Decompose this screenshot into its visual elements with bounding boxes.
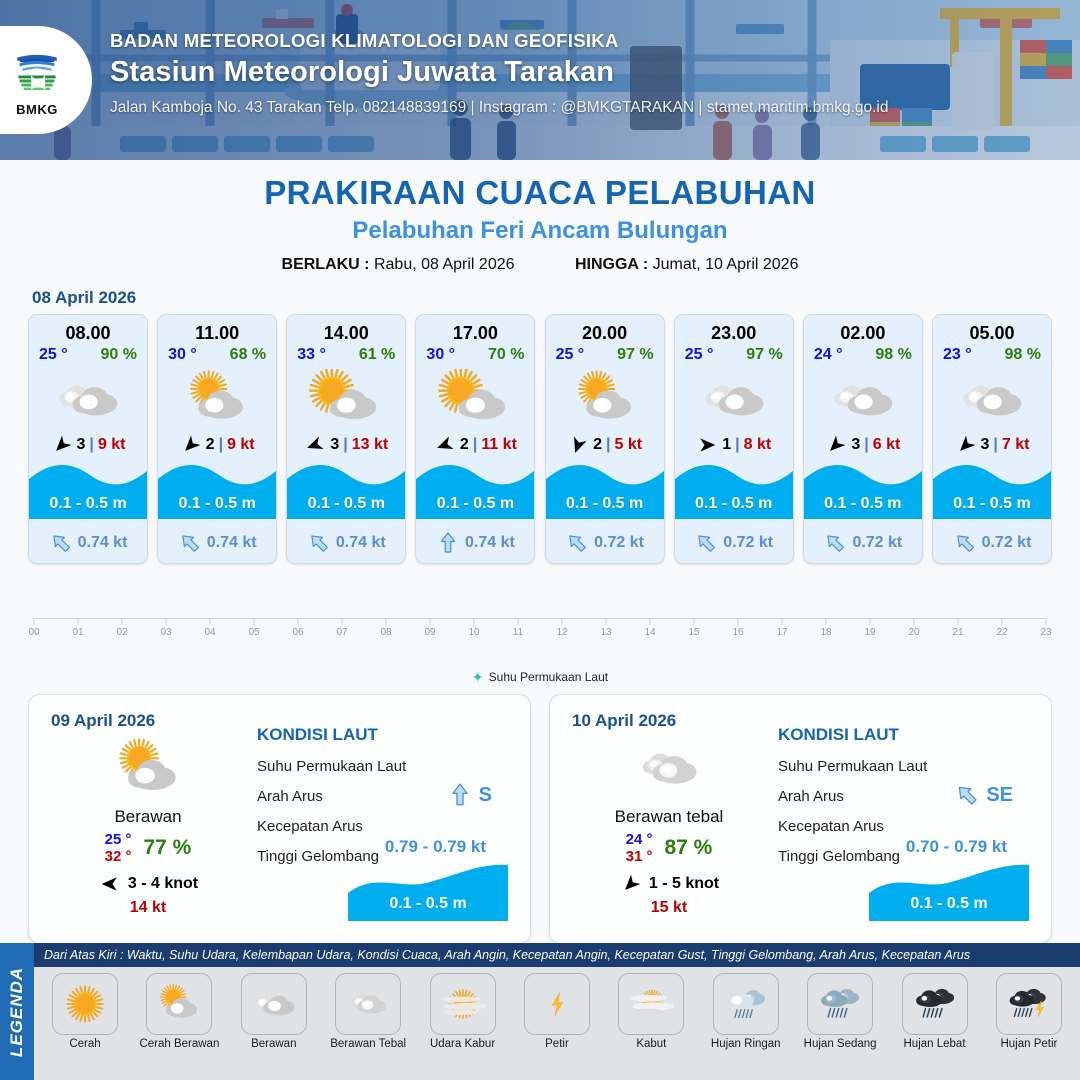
wind-direction-arrow-icon bbox=[825, 435, 847, 455]
sst-legend-marker-icon: ✦ bbox=[472, 670, 484, 684]
hourly-temperature: 33 ° bbox=[297, 346, 326, 364]
daily-temp-max: 32 ° bbox=[105, 848, 132, 865]
hourly-wind-speed: 5 kt bbox=[614, 436, 642, 454]
chart-tick-label: 16 bbox=[732, 627, 743, 638]
weather-icon-berawan-tebal bbox=[623, 737, 715, 801]
chart-tick: 19 bbox=[864, 618, 875, 638]
bmkg-logo-label: BMKG bbox=[16, 102, 58, 117]
hourly-wave-height: 0.1 - 0.5 m bbox=[158, 495, 276, 513]
chart-tick-label: 13 bbox=[600, 627, 611, 638]
legend-icon-box bbox=[713, 973, 779, 1035]
hourly-temp-hum-row: 25 ° 90 % bbox=[29, 344, 147, 364]
legend-item-label: Hujan Ringan bbox=[703, 1038, 789, 1050]
legend-item: Kabut bbox=[608, 973, 694, 1050]
weather-icon-cerah-berawan-besar bbox=[432, 369, 518, 429]
hourly-humidity: 98 % bbox=[1005, 346, 1041, 364]
chart-tick-label: 20 bbox=[908, 627, 919, 638]
current-direction-arrow-icon bbox=[49, 531, 73, 555]
hourly-weather-icon bbox=[174, 368, 260, 430]
chart-tick: 14 bbox=[644, 618, 655, 638]
chart-tick-mark bbox=[34, 618, 35, 625]
chart-tick-mark bbox=[650, 618, 651, 625]
wind-direction-arrow-icon bbox=[619, 874, 643, 894]
hourly-humidity: 68 % bbox=[230, 346, 266, 364]
hourly-current-speed: 0.74 kt bbox=[465, 534, 515, 552]
chart-tick: 10 bbox=[468, 618, 479, 638]
hourly-wind-row: 1 | 8 kt bbox=[696, 432, 771, 458]
wind-direction-arrow-icon bbox=[304, 435, 326, 455]
chart-tick-label: 18 bbox=[820, 627, 831, 638]
daily-sea-column: KONDISI LAUT Suhu Permukaan Laut Arah Ar… bbox=[778, 725, 1037, 933]
weather-icon-cerah bbox=[56, 979, 114, 1029]
daily-wind-row: 1 - 5 knot bbox=[564, 874, 774, 894]
weather-icon-cerah-berawan bbox=[150, 979, 208, 1029]
station-name: Stasiun Meteorologi Juwata Tarakan bbox=[110, 56, 1070, 89]
hourly-current-speed: 0.74 kt bbox=[207, 534, 257, 552]
daily-temp-min: 24 ° bbox=[626, 831, 653, 848]
chart-tick: 07 bbox=[336, 618, 347, 638]
hourly-current-speed: 0.74 kt bbox=[336, 534, 386, 552]
daily-left-column: Berawan tebal 24 ° 31 ° 87 % 1 - 5 knot … bbox=[564, 737, 774, 917]
weather-icon-berawan bbox=[949, 369, 1035, 429]
chart-tick: 22 bbox=[996, 618, 1007, 638]
weather-icon-hujan-petir bbox=[1000, 979, 1058, 1029]
chart-tick-label: 21 bbox=[952, 627, 963, 638]
page-title: PRAKIRAAN CUACA PELABUHAN bbox=[0, 174, 1080, 212]
label-sea-surface-temp: Suhu Permukaan Laut bbox=[257, 758, 516, 775]
hourly-current-speed: 0.72 kt bbox=[852, 534, 902, 552]
wind-separator: | bbox=[993, 436, 997, 454]
daily-current-direction: SE bbox=[954, 781, 1013, 809]
daily-panel-list: 09 April 2026 Berawan 25 ° 32 ° 77 % bbox=[0, 684, 1080, 944]
current-direction-arrow-icon bbox=[436, 531, 460, 555]
chart-tick-mark bbox=[738, 618, 739, 625]
legend-item-label: Berawan Tebal bbox=[325, 1038, 411, 1050]
chart-tick-label: 09 bbox=[424, 627, 435, 638]
daily-wave-height-value: 0.1 - 0.5 m bbox=[869, 895, 1029, 913]
berlaku-label: BERLAKU : bbox=[282, 256, 370, 273]
hourly-card: 02.00 24 ° 98 % 3 | 6 kt bbox=[803, 314, 923, 564]
weather-icon-petir bbox=[528, 979, 586, 1029]
hourly-time: 14.00 bbox=[324, 323, 369, 344]
chart-tick: 11 bbox=[513, 618, 523, 638]
legend-item-list: Cerah Cerah Berawan Berawan bbox=[34, 967, 1080, 1050]
wind-separator: | bbox=[606, 436, 610, 454]
chart-tick-label: 12 bbox=[556, 627, 567, 638]
daily-sea-column: KONDISI LAUT Suhu Permukaan Laut Arah Ar… bbox=[257, 725, 516, 933]
hourly-current-speed: 0.74 kt bbox=[78, 534, 128, 552]
sst-legend-label: Suhu Permukaan Laut bbox=[489, 670, 608, 684]
sst-chart: 00 01 02 03 04 05 06 07 08 09 bbox=[34, 608, 1046, 654]
chart-tick-mark bbox=[342, 618, 343, 625]
hourly-temperature: 30 ° bbox=[168, 346, 197, 364]
chart-tick-label: 22 bbox=[996, 627, 1007, 638]
daily-gust-speed: 14 kt bbox=[43, 899, 253, 917]
daily-humidity: 87 % bbox=[664, 836, 712, 860]
chart-tick-mark bbox=[122, 618, 123, 625]
hourly-temp-hum-row: 25 ° 97 % bbox=[546, 344, 664, 364]
current-direction-arrow-icon bbox=[694, 531, 718, 555]
daily-current-direction: S bbox=[447, 781, 492, 809]
hourly-time: 23.00 bbox=[711, 323, 756, 344]
hourly-time: 05.00 bbox=[969, 323, 1014, 344]
hourly-temp-hum-row: 24 ° 98 % bbox=[804, 344, 922, 364]
chart-tick: 18 bbox=[820, 618, 831, 638]
hourly-card-list: 08.00 25 ° 90 % 3 | 9 kt bbox=[0, 314, 1080, 564]
daily-temp-column: 24 ° 31 ° bbox=[626, 831, 653, 866]
hourly-current-row: 0.74 kt bbox=[29, 531, 147, 555]
daily-weather-icon bbox=[43, 737, 253, 801]
hourly-wind-row: 3 | 13 kt bbox=[304, 432, 388, 458]
chart-tick-mark bbox=[1002, 618, 1003, 625]
legend-side-title: LEGENDA bbox=[7, 966, 27, 1056]
legend-item-label: Udara Kabur bbox=[420, 1038, 506, 1050]
hourly-weather-icon bbox=[45, 368, 131, 430]
chart-legend: ✦ Suhu Permukaan Laut bbox=[0, 670, 1080, 684]
hourly-card: 05.00 23 ° 98 % 3 | 7 kt bbox=[932, 314, 1052, 564]
wind-separator: | bbox=[864, 436, 868, 454]
hourly-current-speed: 0.72 kt bbox=[982, 534, 1032, 552]
chart-tick: 04 bbox=[204, 618, 215, 638]
chart-tick-mark bbox=[826, 618, 827, 625]
daily-current-speed-value: 0.79 - 0.79 kt bbox=[385, 837, 486, 857]
wind-direction-arrow-icon bbox=[98, 874, 122, 894]
daily-weather-icon bbox=[564, 737, 774, 801]
sea-condition-title: KONDISI LAUT bbox=[778, 725, 1037, 745]
chart-tick: 13 bbox=[600, 618, 611, 638]
legend-body: Dari Atas Kiri : Waktu, Suhu Udara, Kele… bbox=[34, 943, 1080, 1080]
chart-tick-mark bbox=[606, 618, 607, 625]
hourly-date: 08 April 2026 bbox=[32, 288, 1080, 308]
wind-separator: | bbox=[473, 436, 477, 454]
hourly-wave-height: 0.1 - 0.5 m bbox=[804, 495, 922, 513]
hourly-current-row: 0.74 kt bbox=[416, 531, 534, 555]
hourly-current-speed: 0.72 kt bbox=[594, 534, 644, 552]
chart-tick: 03 bbox=[160, 618, 171, 638]
hourly-current-row: 0.72 kt bbox=[546, 531, 664, 555]
chart-tick-mark bbox=[254, 618, 255, 625]
daily-current-direction-label: SE bbox=[986, 784, 1013, 807]
chart-tick-mark bbox=[210, 618, 211, 625]
chart-tick-mark bbox=[474, 618, 475, 625]
hourly-weather-icon bbox=[949, 368, 1035, 430]
chart-tick-mark bbox=[386, 618, 387, 625]
daily-panel: 10 April 2026 Berawan tebal 24 ° 31 ° 87… bbox=[549, 694, 1052, 944]
hourly-wind-speed: 6 kt bbox=[873, 436, 901, 454]
hourly-card: 14.00 33 ° 61 % 3 | 13 kt 0.1 - 0.5 m bbox=[286, 314, 406, 564]
hourly-wind-direction-value: 2 bbox=[593, 436, 602, 454]
daily-wind-speed-range: 3 - 4 knot bbox=[128, 875, 198, 893]
chart-tick-mark bbox=[562, 618, 563, 625]
chart-tick: 23 bbox=[1040, 618, 1051, 638]
hourly-temp-hum-row: 23 ° 98 % bbox=[933, 344, 1051, 364]
chart-tick-mark bbox=[694, 618, 695, 625]
chart-tick-mark bbox=[430, 618, 431, 625]
chart-tick-label: 02 bbox=[116, 627, 127, 638]
daily-date: 09 April 2026 bbox=[51, 711, 155, 731]
legend-section: LEGENDA Dari Atas Kiri : Waktu, Suhu Uda… bbox=[0, 943, 1080, 1080]
daily-temp-column: 25 ° 32 ° bbox=[105, 831, 132, 866]
hourly-current-row: 0.74 kt bbox=[158, 531, 276, 555]
chart-tick: 20 bbox=[908, 618, 919, 638]
hourly-temperature: 23 ° bbox=[943, 346, 972, 364]
daily-wave-block: 0.1 - 0.5 m bbox=[348, 863, 508, 921]
legend-icon-box bbox=[996, 973, 1062, 1035]
chart-tick-label: 10 bbox=[468, 627, 479, 638]
hourly-current-row: 0.72 kt bbox=[933, 531, 1051, 555]
daily-current-direction-label: S bbox=[479, 784, 492, 807]
legend-item: Berawan Tebal bbox=[325, 973, 411, 1050]
legend-item: Hujan Lebat bbox=[892, 973, 978, 1050]
weather-icon-berawan-tebal bbox=[339, 979, 397, 1029]
hourly-current-row: 0.72 kt bbox=[675, 531, 793, 555]
legend-item: Hujan Sedang bbox=[797, 973, 883, 1050]
current-direction-arrow-icon bbox=[954, 781, 980, 809]
hourly-temperature: 24 ° bbox=[814, 346, 843, 364]
legend-side-bar: LEGENDA bbox=[0, 943, 34, 1080]
legend-item-label: Petir bbox=[514, 1038, 600, 1050]
daily-left-column: Berawan 25 ° 32 ° 77 % 3 - 4 knot 14 kt bbox=[43, 737, 253, 917]
current-direction-arrow-icon bbox=[565, 531, 589, 555]
sea-condition-title: KONDISI LAUT bbox=[257, 725, 516, 745]
page-subtitle: Pelabuhan Feri Ancam Bulungan bbox=[0, 217, 1080, 245]
chart-tick-label: 01 bbox=[72, 627, 83, 638]
legend-item: Hujan Ringan bbox=[703, 973, 789, 1050]
weather-icon-berawan bbox=[45, 369, 131, 429]
hourly-time: 02.00 bbox=[840, 323, 885, 344]
validity-row: BERLAKU : Rabu, 08 April 2026 HINGGA : J… bbox=[0, 256, 1080, 274]
hourly-humidity: 97 % bbox=[746, 346, 782, 364]
hourly-card: 20.00 25 ° 97 % 2 | 5 kt 0.1 - 0.5 m bbox=[545, 314, 665, 564]
hourly-time: 17.00 bbox=[453, 323, 498, 344]
current-direction-arrow-icon bbox=[178, 531, 202, 555]
weather-icon-hujan-lebat bbox=[906, 979, 964, 1029]
weather-icon-berawan bbox=[245, 979, 303, 1029]
bmkg-logo-icon bbox=[8, 43, 66, 101]
hourly-wave-height: 0.1 - 0.5 m bbox=[29, 495, 147, 513]
hourly-humidity: 70 % bbox=[488, 346, 524, 364]
hingga-value: Jumat, 10 April 2026 bbox=[653, 256, 799, 273]
chart-tick-label: 00 bbox=[28, 627, 39, 638]
legend-item: Cerah bbox=[42, 973, 128, 1050]
chart-tick-mark bbox=[870, 618, 871, 625]
hourly-temperature: 25 ° bbox=[685, 346, 714, 364]
hourly-wind-row: 2 | 9 kt bbox=[180, 432, 255, 458]
hourly-wave-height: 0.1 - 0.5 m bbox=[675, 495, 793, 513]
chart-tick-label: 03 bbox=[160, 627, 171, 638]
hourly-humidity: 97 % bbox=[617, 346, 653, 364]
hourly-card: 17.00 30 ° 70 % 2 | 11 kt 0.1 - 0.5 m bbox=[415, 314, 535, 564]
hourly-wave-height: 0.1 - 0.5 m bbox=[287, 495, 405, 513]
chart-tick: 15 bbox=[688, 618, 699, 638]
daily-date: 10 April 2026 bbox=[572, 711, 676, 731]
legend-icon-box bbox=[52, 973, 118, 1035]
weather-icon-udara-kabur bbox=[434, 979, 492, 1029]
hourly-wind-direction-value: 2 bbox=[206, 436, 215, 454]
current-direction-arrow-icon bbox=[307, 531, 331, 555]
wind-direction-arrow-icon bbox=[434, 435, 456, 455]
chart-tick: 16 bbox=[732, 618, 743, 638]
legend-item-label: Hujan Petir bbox=[986, 1038, 1072, 1050]
hourly-wind-speed: 13 kt bbox=[352, 436, 388, 454]
hourly-temp-hum-row: 25 ° 97 % bbox=[675, 344, 793, 364]
current-direction-arrow-icon bbox=[447, 781, 473, 809]
hourly-wind-direction-value: 3 bbox=[851, 436, 860, 454]
chart-tick-mark bbox=[782, 618, 783, 625]
weather-icon-cerah-berawan bbox=[174, 369, 260, 429]
hourly-current-row: 0.72 kt bbox=[804, 531, 922, 555]
agency-name: BADAN METEOROLOGI KLIMATOLOGI DAN GEOFIS… bbox=[110, 30, 1070, 52]
legend-item: Berawan bbox=[231, 973, 317, 1050]
chart-tick-label: 19 bbox=[864, 627, 875, 638]
daily-wave-height-value: 0.1 - 0.5 m bbox=[348, 895, 508, 913]
weather-icon-cerah-berawan bbox=[562, 369, 648, 429]
chart-x-ticks: 00 01 02 03 04 05 06 07 08 09 bbox=[34, 618, 1046, 652]
hourly-current-row: 0.74 kt bbox=[287, 531, 405, 555]
wind-direction-arrow-icon bbox=[567, 435, 589, 455]
legend-item-label: Kabut bbox=[608, 1038, 694, 1050]
hourly-wind-direction-value: 2 bbox=[460, 436, 469, 454]
hourly-humidity: 90 % bbox=[101, 346, 137, 364]
chart-tick-label: 04 bbox=[204, 627, 215, 638]
chart-tick-label: 23 bbox=[1040, 627, 1051, 638]
legend-icon-box bbox=[618, 973, 684, 1035]
hourly-temperature: 25 ° bbox=[39, 346, 68, 364]
legend-icon-box bbox=[335, 973, 401, 1035]
page-header: BMKG BADAN METEOROLOGI KLIMATOLOGI DAN G… bbox=[0, 0, 1080, 160]
hourly-wind-speed: 11 kt bbox=[481, 436, 517, 454]
daily-condition: Berawan bbox=[43, 807, 253, 827]
hourly-wind-speed: 8 kt bbox=[744, 436, 772, 454]
daily-wind-speed-range: 1 - 5 knot bbox=[649, 875, 719, 893]
wind-separator: | bbox=[89, 436, 93, 454]
hourly-temp-hum-row: 30 ° 70 % bbox=[416, 344, 534, 364]
legend-item-label: Cerah Berawan bbox=[136, 1038, 222, 1050]
legend-icon-box bbox=[430, 973, 496, 1035]
hourly-card: 23.00 25 ° 97 % 1 | 8 kt bbox=[674, 314, 794, 564]
chart-tick-mark bbox=[914, 618, 915, 625]
weather-icon-cerah-berawan bbox=[102, 737, 194, 801]
chart-tick-mark bbox=[298, 618, 299, 625]
chart-tick-label: 11 bbox=[513, 627, 523, 638]
legend-item-label: Hujan Lebat bbox=[892, 1038, 978, 1050]
daily-temp-min: 25 ° bbox=[105, 831, 132, 848]
hourly-humidity: 61 % bbox=[359, 346, 395, 364]
chart-tick-label: 06 bbox=[292, 627, 303, 638]
legend-item-label: Cerah bbox=[42, 1038, 128, 1050]
chart-tick: 02 bbox=[116, 618, 127, 638]
hingga-label: HINGGA : bbox=[575, 256, 648, 273]
hourly-temp-hum-row: 33 ° 61 % bbox=[287, 344, 405, 364]
hourly-wind-direction-value: 3 bbox=[330, 436, 339, 454]
hourly-wind-direction-value: 3 bbox=[77, 436, 86, 454]
weather-icon-berawan bbox=[691, 369, 777, 429]
hourly-wave-height: 0.1 - 0.5 m bbox=[416, 495, 534, 513]
chart-tick-mark bbox=[78, 618, 79, 625]
chart-tick: 17 bbox=[776, 618, 787, 638]
hourly-weather-icon bbox=[303, 368, 389, 430]
hourly-time: 20.00 bbox=[582, 323, 627, 344]
hourly-wave-height: 0.1 - 0.5 m bbox=[546, 495, 664, 513]
contact-line: Jalan Kamboja No. 43 Tarakan Telp. 08214… bbox=[110, 99, 1070, 117]
daily-gust-speed: 15 kt bbox=[564, 899, 774, 917]
hourly-wind-row: 3 | 7 kt bbox=[955, 432, 1030, 458]
chart-tick: 21 bbox=[952, 618, 963, 638]
hourly-wind-speed: 7 kt bbox=[1002, 436, 1030, 454]
legend-item: Udara Kabur bbox=[420, 973, 506, 1050]
chart-tick-mark bbox=[517, 618, 518, 625]
daily-current-speed-value: 0.70 - 0.79 kt bbox=[906, 837, 1007, 857]
legend-icon-box bbox=[146, 973, 212, 1035]
current-direction-arrow-icon bbox=[953, 531, 977, 555]
hourly-temperature: 25 ° bbox=[556, 346, 585, 364]
label-sea-surface-temp: Suhu Permukaan Laut bbox=[778, 758, 1037, 775]
hourly-wind-speed: 9 kt bbox=[227, 436, 255, 454]
wind-separator: | bbox=[219, 436, 223, 454]
legend-item: Petir bbox=[514, 973, 600, 1050]
hourly-wind-row: 2 | 5 kt bbox=[567, 432, 642, 458]
label-current-speed: Kecepatan Arus bbox=[257, 818, 516, 835]
daily-temps-row: 24 ° 31 ° 87 % bbox=[564, 831, 774, 866]
legend-icon-box bbox=[902, 973, 968, 1035]
chart-tick-mark bbox=[1046, 618, 1047, 625]
daily-wave-block: 0.1 - 0.5 m bbox=[869, 863, 1029, 921]
weather-icon-kabut bbox=[622, 979, 680, 1029]
label-current-speed: Kecepatan Arus bbox=[778, 818, 1037, 835]
hourly-wind-speed: 9 kt bbox=[98, 436, 126, 454]
hourly-card: 08.00 25 ° 90 % 3 | 9 kt bbox=[28, 314, 148, 564]
daily-temp-max: 31 ° bbox=[626, 848, 653, 865]
wind-direction-arrow-icon bbox=[955, 435, 977, 455]
hourly-wind-row: 3 | 6 kt bbox=[825, 432, 900, 458]
hourly-humidity: 98 % bbox=[875, 346, 911, 364]
hourly-temperature: 30 ° bbox=[426, 346, 455, 364]
hourly-wave-height: 0.1 - 0.5 m bbox=[933, 495, 1051, 513]
weather-icon-hujan-ringan bbox=[717, 979, 775, 1029]
chart-tick-label: 15 bbox=[688, 627, 699, 638]
chart-tick: 09 bbox=[424, 618, 435, 638]
daily-wind-row: 3 - 4 knot bbox=[43, 874, 253, 894]
daily-panel: 09 April 2026 Berawan 25 ° 32 ° 77 % bbox=[28, 694, 531, 944]
legend-item: Cerah Berawan bbox=[136, 973, 222, 1050]
chart-tick: 05 bbox=[248, 618, 259, 638]
wind-separator: | bbox=[343, 436, 347, 454]
chart-tick: 01 bbox=[72, 618, 83, 638]
legend-note: Dari Atas Kiri : Waktu, Suhu Udara, Kele… bbox=[34, 943, 1080, 967]
hourly-current-speed: 0.72 kt bbox=[723, 534, 773, 552]
hourly-weather-icon bbox=[562, 368, 648, 430]
chart-tick-label: 17 bbox=[776, 627, 787, 638]
chart-tick-mark bbox=[958, 618, 959, 625]
hourly-wind-direction-value: 1 bbox=[722, 436, 731, 454]
daily-temps-row: 25 ° 32 ° 77 % bbox=[43, 831, 253, 866]
chart-tick: 08 bbox=[380, 618, 391, 638]
legend-icon-box bbox=[524, 973, 590, 1035]
hourly-wind-direction-value: 3 bbox=[981, 436, 990, 454]
daily-condition: Berawan tebal bbox=[564, 807, 774, 827]
weather-icon-berawan bbox=[820, 369, 906, 429]
hourly-wind-row: 3 | 9 kt bbox=[51, 432, 126, 458]
hourly-weather-icon bbox=[691, 368, 777, 430]
chart-tick: 12 bbox=[556, 618, 567, 638]
chart-tick-mark bbox=[166, 618, 167, 625]
hourly-weather-icon bbox=[820, 368, 906, 430]
weather-icon-hujan-sedang bbox=[811, 979, 869, 1029]
chart-tick-label: 07 bbox=[336, 627, 347, 638]
chart-tick-label: 14 bbox=[644, 627, 655, 638]
current-direction-arrow-icon bbox=[823, 531, 847, 555]
hourly-time: 08.00 bbox=[65, 323, 110, 344]
